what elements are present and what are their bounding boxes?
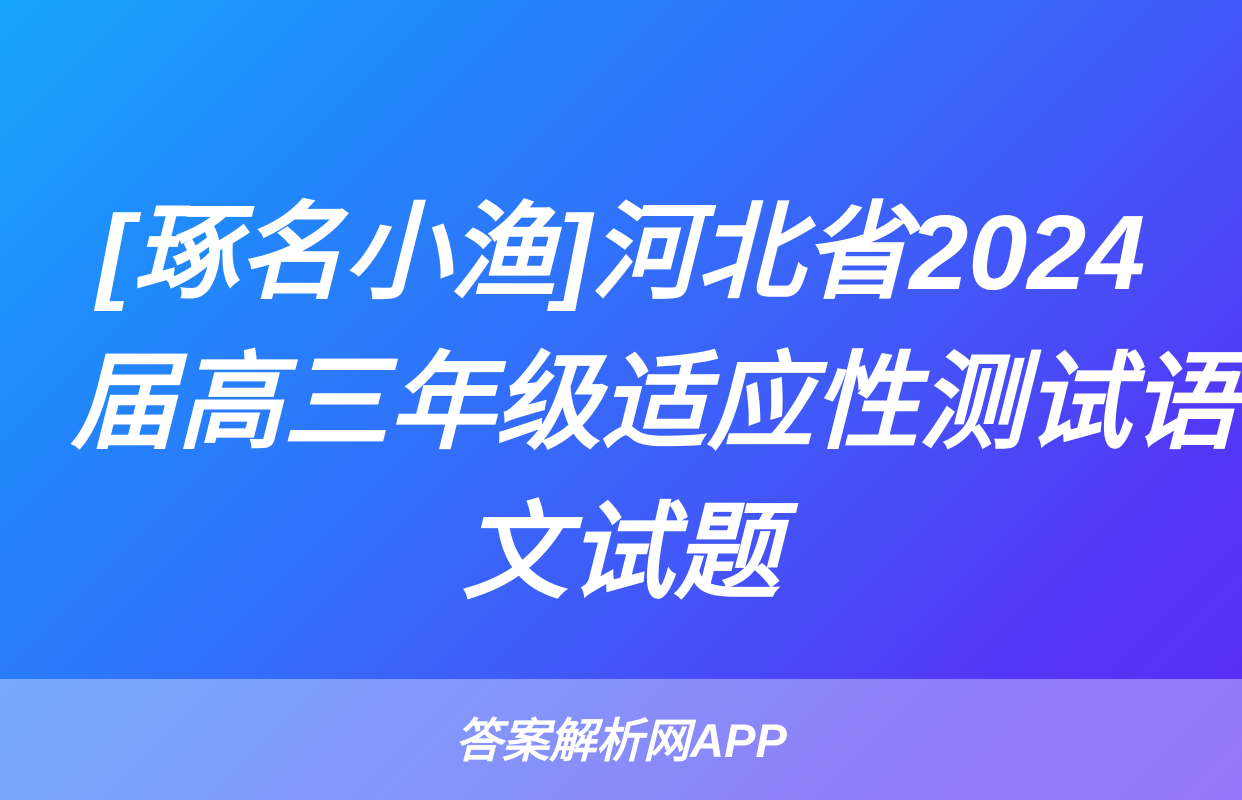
title-block: [琢名小渔]河北省2024 届高三年级适应性测试语 文试题 bbox=[0, 178, 1242, 628]
title-line-2: 届高三年级适应性测试语 bbox=[71, 328, 1171, 478]
title-line-1: [琢名小渔]河北省2024 bbox=[71, 178, 1171, 328]
watermark-band: 答案解析网APP bbox=[0, 679, 1242, 800]
title-line-3: 文试题 bbox=[71, 478, 1171, 628]
poster-canvas: [琢名小渔]河北省2024 届高三年级适应性测试语 文试题 答案解析网APP bbox=[0, 0, 1242, 800]
watermark-label: 答案解析网APP bbox=[455, 717, 787, 764]
